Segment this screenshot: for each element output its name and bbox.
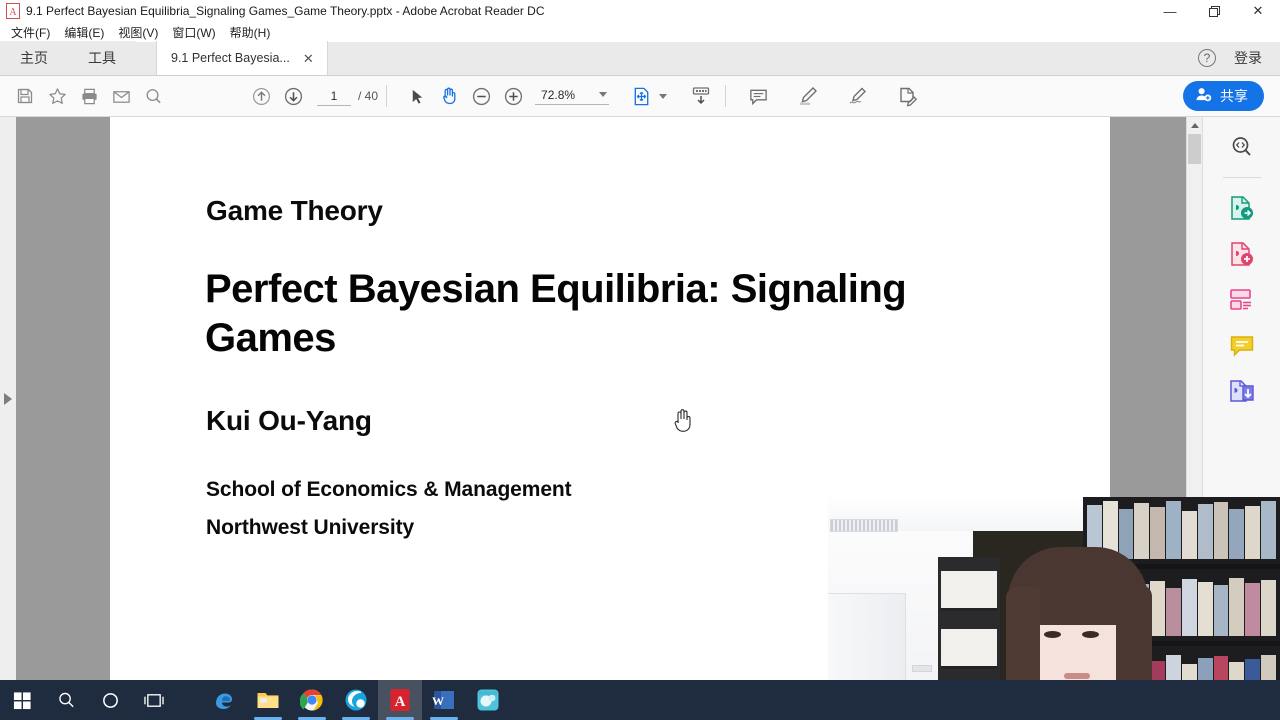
organize-pages-icon[interactable] <box>1222 280 1262 320</box>
navigation-pane-toggle[interactable] <box>0 117 16 680</box>
file-explorer-button[interactable] <box>246 680 290 720</box>
sign-in-button[interactable]: 登录 <box>1234 48 1262 68</box>
chevron-down-icon[interactable] <box>599 92 607 97</box>
search-button[interactable] <box>44 680 88 720</box>
export-pdf-icon[interactable] <box>1222 188 1262 228</box>
menu-help[interactable]: 帮助(H) <box>223 22 278 43</box>
document-tab[interactable]: 9.1 Perfect Bayesia... ✕ <box>156 41 328 75</box>
cursor-icon[interactable] <box>401 80 433 112</box>
rail-divider <box>1223 177 1261 178</box>
zoom-in-icon[interactable] <box>497 80 529 112</box>
scrollbar-thumb[interactable] <box>1188 134 1201 164</box>
toolbar-divider <box>725 85 726 107</box>
email-icon[interactable] <box>105 80 137 112</box>
eyebrow-right <box>1081 621 1101 624</box>
word-button[interactable]: W <box>422 680 466 720</box>
light-switch <box>912 665 932 672</box>
start-button[interactable] <box>0 680 44 720</box>
share-label: 共享 <box>1220 86 1248 106</box>
search-magnify-icon[interactable] <box>1222 127 1262 167</box>
minimize-button[interactable]: — <box>1148 0 1192 22</box>
fill-and-sign-icon[interactable] <box>892 80 924 112</box>
menu-window[interactable]: 窗口(W) <box>165 22 222 43</box>
zoom-level-select[interactable]: 72.8% <box>535 88 609 105</box>
ceiling-vent <box>830 519 898 532</box>
eyebrow-left <box>1042 621 1062 624</box>
menu-file[interactable]: 文件(F) <box>4 22 57 43</box>
page-total-label: / 40 <box>358 89 378 103</box>
menu-bar: 文件(F) 编辑(E) 视图(V) 窗口(W) 帮助(H) <box>0 22 1280 42</box>
comment-icon[interactable] <box>742 80 774 112</box>
share-person-icon <box>1195 86 1212 106</box>
tab-bar: 主页 工具 9.1 Perfect Bayesia... ✕ ? 登录 <box>0 42 1280 76</box>
next-page-icon[interactable] <box>277 80 309 112</box>
compress-pdf-icon[interactable] <box>1222 372 1262 412</box>
acrobat-document-icon: A <box>6 3 20 19</box>
main-toolbar: / 40 72.8% <box>0 76 1280 117</box>
eye-left <box>1044 631 1061 638</box>
restore-button[interactable] <box>1192 0 1236 22</box>
share-button[interactable]: 共享 <box>1183 81 1264 111</box>
svg-text:A: A <box>9 7 17 18</box>
task-view-button[interactable] <box>132 680 176 720</box>
qq-browser-button[interactable] <box>334 680 378 720</box>
chrome-button[interactable] <box>290 680 334 720</box>
windows-taskbar: A W <box>0 680 1280 720</box>
media-app-button[interactable] <box>466 680 510 720</box>
slide-title: Perfect Bayesian Equilibria: Signaling G… <box>205 265 1005 363</box>
fit-page-icon[interactable] <box>625 80 657 112</box>
close-button[interactable]: ✕ <box>1236 0 1280 22</box>
edge-button[interactable] <box>202 680 246 720</box>
slide-affiliation-line-1: School of Economics & Management <box>206 471 906 509</box>
toolbar-divider <box>386 85 387 107</box>
hand-icon[interactable] <box>433 80 465 112</box>
window-title: 9.1 Perfect Bayesian Equilibria_Signalin… <box>26 4 545 18</box>
scroll-up-icon[interactable] <box>1187 117 1202 133</box>
document-workspace: Game Theory Perfect Bayesian Equilibria:… <box>0 117 1280 680</box>
menu-edit[interactable]: 编辑(E) <box>57 22 111 43</box>
slide-author: Kui Ou-Yang <box>206 405 372 437</box>
previous-page-icon[interactable] <box>245 80 277 112</box>
tab-tools[interactable]: 工具 <box>68 41 136 75</box>
page-navigation: / 40 <box>317 86 378 106</box>
tab-bar-right: ? 登录 <box>1198 41 1280 75</box>
document-tab-label: 9.1 Perfect Bayesia... <box>171 51 290 65</box>
slide-affiliation-line-2: Northwest University <box>206 509 906 547</box>
slide-kicker: Game Theory <box>206 195 383 227</box>
page-down-icon[interactable] <box>685 80 717 112</box>
signature-icon[interactable] <box>842 80 874 112</box>
expand-navigation-pane-icon[interactable] <box>4 393 12 405</box>
print-icon[interactable] <box>73 80 105 112</box>
star-icon[interactable] <box>41 80 73 112</box>
save-icon[interactable] <box>9 80 41 112</box>
menu-view[interactable]: 视图(V) <box>111 22 165 43</box>
zoom-level-value: 72.8% <box>541 88 575 102</box>
zoom-out-icon[interactable] <box>465 80 497 112</box>
highlight-pen-icon[interactable] <box>792 80 824 112</box>
eye-right <box>1082 631 1099 638</box>
mouth <box>1064 673 1090 679</box>
create-pdf-icon[interactable] <box>1222 234 1262 274</box>
title-bar: A 9.1 Perfect Bayesian Equilibria_Signal… <box>0 0 1280 22</box>
search-icon[interactable] <box>137 80 169 112</box>
hand-cursor-pointer <box>670 407 696 437</box>
svg-text:W: W <box>432 694 444 708</box>
svg-text:A: A <box>395 694 406 710</box>
comment-icon[interactable] <box>1222 326 1262 366</box>
window-controls: — ✕ <box>1148 0 1280 22</box>
slide-affiliation: School of Economics & Management Northwe… <box>206 471 906 547</box>
cortana-button[interactable] <box>88 680 132 720</box>
acrobat-button[interactable]: A <box>378 680 422 720</box>
close-icon[interactable]: ✕ <box>300 50 317 67</box>
tab-home[interactable]: 主页 <box>0 41 68 75</box>
page-number-input[interactable] <box>317 86 351 106</box>
help-icon[interactable]: ? <box>1198 49 1216 67</box>
acrobat-reader-window: A 9.1 Perfect Bayesian Equilibria_Signal… <box>0 0 1280 720</box>
chevron-down-icon[interactable] <box>659 94 667 99</box>
